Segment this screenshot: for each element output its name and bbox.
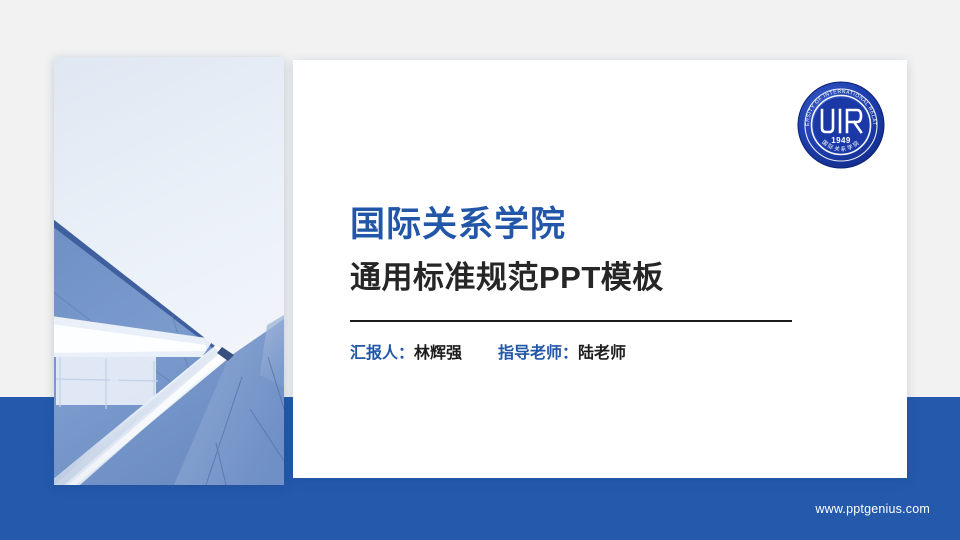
university-seal-icon: UNIVERSITY OF INTERNATIONAL RELATIONS 国际… xyxy=(795,79,887,171)
cover-photo xyxy=(54,57,284,485)
presenter-row: 汇报人：林辉强指导老师：陆老师 xyxy=(350,339,626,363)
university-logo: UNIVERSITY OF INTERNATIONAL RELATIONS 国际… xyxy=(795,79,887,171)
page-subtitle: 通用标准规范PPT模板 xyxy=(350,252,664,297)
presenter-group-advisor: 指导老师：陆老师 xyxy=(498,345,626,362)
reporter-name: 林辉强 xyxy=(414,345,462,362)
advisor-label: 指导老师： xyxy=(498,345,578,362)
advisor-name: 陆老师 xyxy=(578,345,626,362)
architectural-photo-graphic xyxy=(54,57,284,485)
reporter-label: 汇报人： xyxy=(350,345,414,362)
title-divider xyxy=(350,320,792,322)
presenter-group-reporter: 汇报人：林辉强 xyxy=(350,345,462,362)
seal-year: 1949 xyxy=(831,136,851,145)
presentation-slide: UNIVERSITY OF INTERNATIONAL RELATIONS 国际… xyxy=(0,0,960,540)
site-watermark: www.pptgenius.com xyxy=(770,502,930,516)
page-title: 国际关系学院 xyxy=(350,196,566,247)
